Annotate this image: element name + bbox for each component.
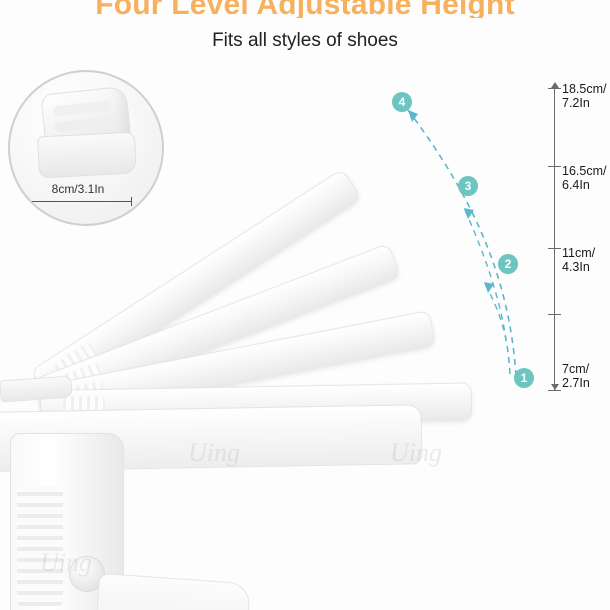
scale-label-level-3-imperial: 6.4In bbox=[562, 178, 606, 192]
scale-label-level-4-metric: 18.5cm/ bbox=[562, 82, 606, 96]
adjustment-arc bbox=[360, 86, 540, 396]
scale-tick-5 bbox=[548, 390, 561, 391]
scale-tick-1 bbox=[548, 88, 561, 89]
column-ridges bbox=[17, 486, 63, 606]
callout-badge-2: 2 bbox=[498, 254, 518, 274]
scale-label-level-3: 16.5cm/ 6.4In bbox=[562, 164, 606, 192]
scale-label-level-4-imperial: 7.2In bbox=[562, 96, 606, 110]
subtitle: Fits all styles of shoes bbox=[0, 30, 610, 52]
callout-badge-4: 4 bbox=[392, 92, 412, 112]
scale-tick-2 bbox=[548, 166, 561, 167]
scale-axis-line bbox=[554, 88, 555, 390]
scale-label-level-1: 7cm/ 2.7In bbox=[562, 362, 590, 390]
rack-foot bbox=[93, 573, 251, 610]
watermark-two: Uing bbox=[390, 438, 442, 468]
watermark-one: Uing bbox=[188, 438, 240, 468]
scale-tick-3 bbox=[548, 248, 561, 249]
scale-label-level-1-imperial: 2.7In bbox=[562, 376, 590, 390]
scale-label-level-1-metric: 7cm/ bbox=[562, 362, 590, 376]
scale-label-level-2-imperial: 4.3In bbox=[562, 260, 595, 274]
page-title: Four Level Adjustable Height bbox=[0, 0, 610, 18]
scale-label-level-3-metric: 16.5cm/ bbox=[562, 164, 606, 178]
scale-label-level-2: 11cm/ 4.3In bbox=[562, 246, 595, 274]
scale-label-level-2-metric: 11cm/ bbox=[562, 246, 595, 260]
callout-badge-3: 3 bbox=[458, 176, 478, 196]
product-image: Four Level Adjustable Height Fits all st… bbox=[0, 0, 610, 610]
callout-badge-1: 1 bbox=[514, 368, 534, 388]
scale-label-level-4: 18.5cm/ 7.2In bbox=[562, 82, 606, 110]
height-scale: 18.5cm/ 7.2In 16.5cm/ 6.4In 11cm/ 4.3In … bbox=[548, 80, 610, 400]
watermark-three: Uing bbox=[40, 548, 92, 578]
scale-tick-4 bbox=[548, 314, 561, 315]
